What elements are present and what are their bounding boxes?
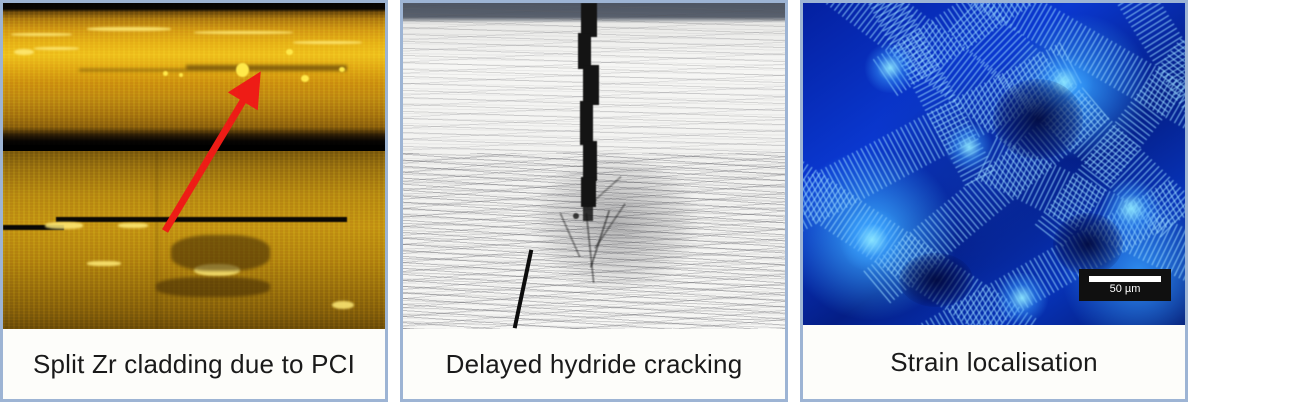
low-strain-region — [899, 253, 973, 307]
panel-2-media — [403, 3, 785, 329]
vertical-crack-segment — [581, 3, 597, 37]
cladding-upper-micrograph — [3, 3, 385, 145]
panel-1-caption: Split Zr cladding due to PCI — [3, 329, 385, 399]
defect-highlight — [301, 75, 309, 82]
low-strain-region — [1053, 213, 1123, 275]
bright-streak — [118, 223, 149, 228]
bright-streak — [45, 222, 83, 229]
vertical-seam — [156, 151, 158, 329]
crack-tip-process-zone — [531, 153, 701, 293]
dark-band — [171, 235, 270, 271]
strain-hotspot — [863, 43, 917, 93]
panel-delayed-hydride-cracking[interactable]: Delayed hydride cracking — [400, 0, 788, 402]
defect-highlight — [179, 73, 183, 77]
vertical-crack-segment — [578, 33, 591, 69]
vertical-crack-segment — [583, 141, 597, 181]
horizontal-crack — [56, 217, 346, 222]
cladding-upper-grain-texture — [3, 3, 385, 145]
panel-3-caption: Strain localisation — [803, 325, 1185, 399]
crack-tip-void — [573, 213, 579, 219]
bright-streak — [332, 301, 355, 309]
dark-band — [186, 65, 346, 71]
micrograph-figure-row: Split Zr cladding due to PCI — [0, 0, 1294, 414]
dark-band — [156, 277, 271, 297]
scalebar-label: 50 µm — [1110, 283, 1141, 295]
strain-hotspot — [993, 273, 1051, 323]
panel-split-zr-cladding[interactable]: Split Zr cladding due to PCI — [0, 0, 388, 402]
vertical-crack-segment — [583, 65, 599, 105]
bright-streak — [87, 261, 121, 266]
strain-hotspot — [943, 123, 995, 171]
strain-hotspot — [837, 209, 907, 271]
bright-streak — [14, 49, 33, 55]
bright-streak — [11, 33, 72, 36]
vertical-crack-segment — [580, 101, 593, 145]
panel-strain-localisation[interactable]: 50 µm Strain localisation — [800, 0, 1188, 402]
bright-streak — [87, 27, 171, 31]
low-strain-region — [993, 79, 1083, 159]
bright-streak — [194, 31, 293, 34]
defect-highlight — [286, 49, 293, 55]
bright-streak — [293, 41, 362, 44]
defect-highlight — [236, 63, 249, 77]
scalebar: 50 µm — [1079, 269, 1171, 301]
panel-2-caption: Delayed hydride cracking — [403, 329, 785, 399]
cladding-lower-micrograph — [3, 151, 385, 329]
panel-3-media: 50 µm — [803, 3, 1185, 325]
panel-1-media — [3, 3, 385, 329]
bright-streak — [34, 47, 80, 50]
scalebar-line — [1089, 276, 1161, 282]
dark-band — [79, 69, 186, 71]
